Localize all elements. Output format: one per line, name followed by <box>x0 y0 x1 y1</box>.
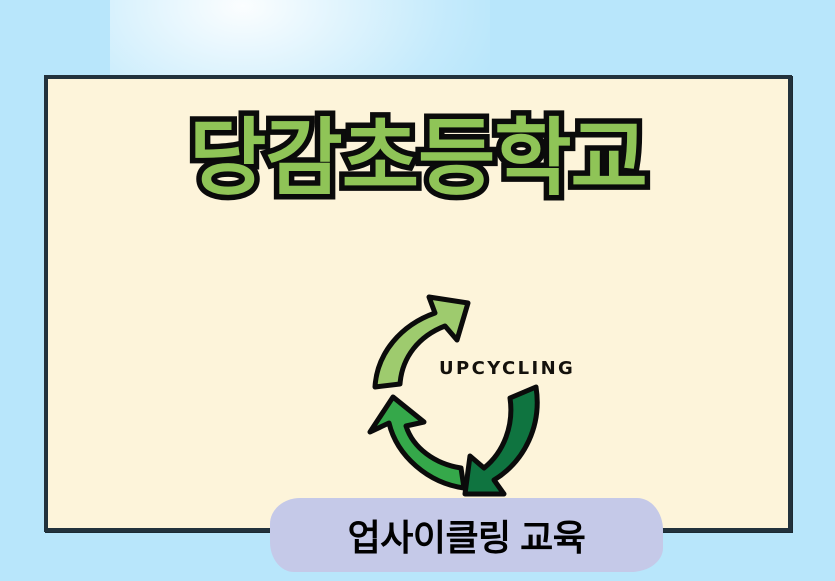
poster-canvas: 당감초등학교 UPCYCLING 업사이클링 교육 <box>0 0 835 581</box>
upcycling-label: UPCYCLING <box>439 358 575 379</box>
page-title-container: 당감초등학교 <box>48 111 788 205</box>
poster-card: 당감초등학교 UPCYCLING 업사이클링 교육 <box>44 75 792 532</box>
subtitle-text: 업사이클링 교육 <box>270 498 663 572</box>
medium-green-arrow <box>370 397 464 488</box>
page-title: 당감초등학교 <box>189 111 647 205</box>
dark-green-arrow <box>465 387 537 494</box>
upcycling-cycle-graphic <box>345 291 595 503</box>
